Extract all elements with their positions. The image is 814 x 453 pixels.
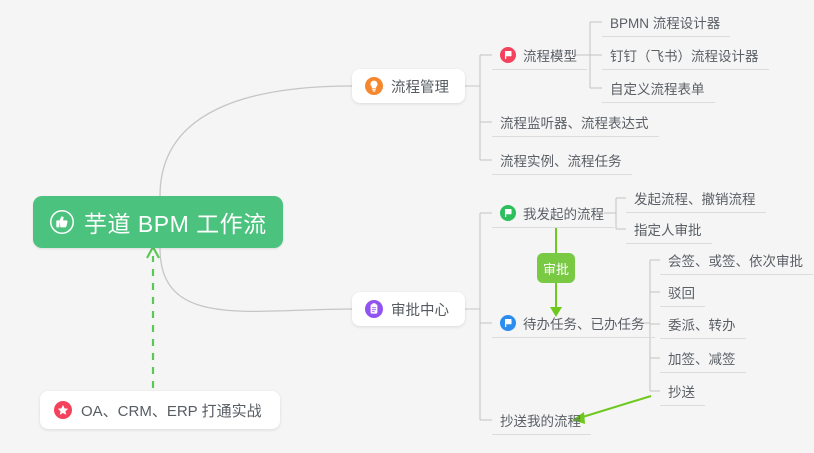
label-process-model: 流程模型 <box>523 45 577 65</box>
label-countersign-orsign-sequential: 会签、或签、依次审批 <box>668 250 803 270</box>
clipboard-icon <box>365 300 383 318</box>
label-delegate-transfer: 委派、转办 <box>668 314 736 334</box>
label-todo-done-task: 待办任务、已办任务 <box>523 313 645 333</box>
label-bpmn-designer: BPMN 流程设计器 <box>610 12 720 32</box>
label-cc-to-me-process: 抄送我的流程 <box>500 410 581 430</box>
note-label: OA、CRM、ERP 打通实战 <box>81 400 262 421</box>
root-label: 芋道 BPM 工作流 <box>84 205 267 239</box>
node-process-model[interactable]: 流程模型 <box>492 40 587 70</box>
star-icon <box>54 401 72 419</box>
approve-badge[interactable]: 审批 <box>537 253 575 283</box>
label-add-remove-sign: 加签、减签 <box>668 348 736 368</box>
node-delegate-transfer[interactable]: 委派、转办 <box>660 309 746 339</box>
label-custom-process-form: 自定义流程表单 <box>610 78 705 98</box>
label-dingtalk-feishu-designer: 钉钉（飞书）流程设计器 <box>610 45 759 65</box>
mindmap-canvas: 芋道 BPM 工作流 流程管理 流程模型 BPMN 流程设计器 钉钉（飞书）流程… <box>0 0 814 453</box>
node-assignee-approval[interactable]: 指定人审批 <box>626 214 712 244</box>
flag-icon <box>500 205 516 221</box>
node-countersign-orsign-sequential[interactable]: 会签、或签、依次审批 <box>660 245 813 275</box>
branch-node-process-management[interactable]: 流程管理 <box>352 69 465 103</box>
node-add-remove-sign[interactable]: 加签、减签 <box>660 343 746 373</box>
label-start-cancel-process: 发起流程、撤销流程 <box>634 188 756 208</box>
node-my-started-process[interactable]: 我发起的流程 <box>492 198 614 228</box>
flag-icon <box>500 315 516 331</box>
note-card-integration[interactable]: OA、CRM、ERP 打通实战 <box>40 391 280 429</box>
node-todo-done-task[interactable]: 待办任务、已办任务 <box>492 308 655 338</box>
node-dingtalk-feishu-designer[interactable]: 钉钉（飞书）流程设计器 <box>602 40 769 70</box>
node-cc-send[interactable]: 抄送 <box>660 376 705 406</box>
flag-icon <box>500 47 516 63</box>
node-bpmn-designer[interactable]: BPMN 流程设计器 <box>602 7 730 37</box>
node-reject[interactable]: 驳回 <box>660 277 705 307</box>
node-process-listener-expression[interactable]: 流程监听器、流程表达式 <box>492 107 659 137</box>
label-assignee-approval: 指定人审批 <box>634 219 702 239</box>
branch-label-approval-center: 审批中心 <box>391 299 449 320</box>
root-node[interactable]: 芋道 BPM 工作流 <box>33 196 283 248</box>
approve-badge-label: 审批 <box>543 259 569 278</box>
node-cc-to-me-process[interactable]: 抄送我的流程 <box>492 405 591 435</box>
label-cc-send: 抄送 <box>668 381 695 401</box>
label-reject: 驳回 <box>668 282 695 302</box>
node-start-cancel-process[interactable]: 发起流程、撤销流程 <box>626 183 766 213</box>
branch-label-process-management: 流程管理 <box>391 76 449 97</box>
label-my-started-process: 我发起的流程 <box>523 203 604 223</box>
lightbulb-icon <box>365 77 383 95</box>
node-custom-process-form[interactable]: 自定义流程表单 <box>602 73 715 103</box>
branch-node-approval-center[interactable]: 审批中心 <box>352 292 465 326</box>
label-process-instance-task: 流程实例、流程任务 <box>500 150 622 170</box>
thumbs-up-icon <box>50 210 74 234</box>
label-process-listener-expression: 流程监听器、流程表达式 <box>500 112 649 132</box>
node-process-instance-task[interactable]: 流程实例、流程任务 <box>492 145 632 175</box>
